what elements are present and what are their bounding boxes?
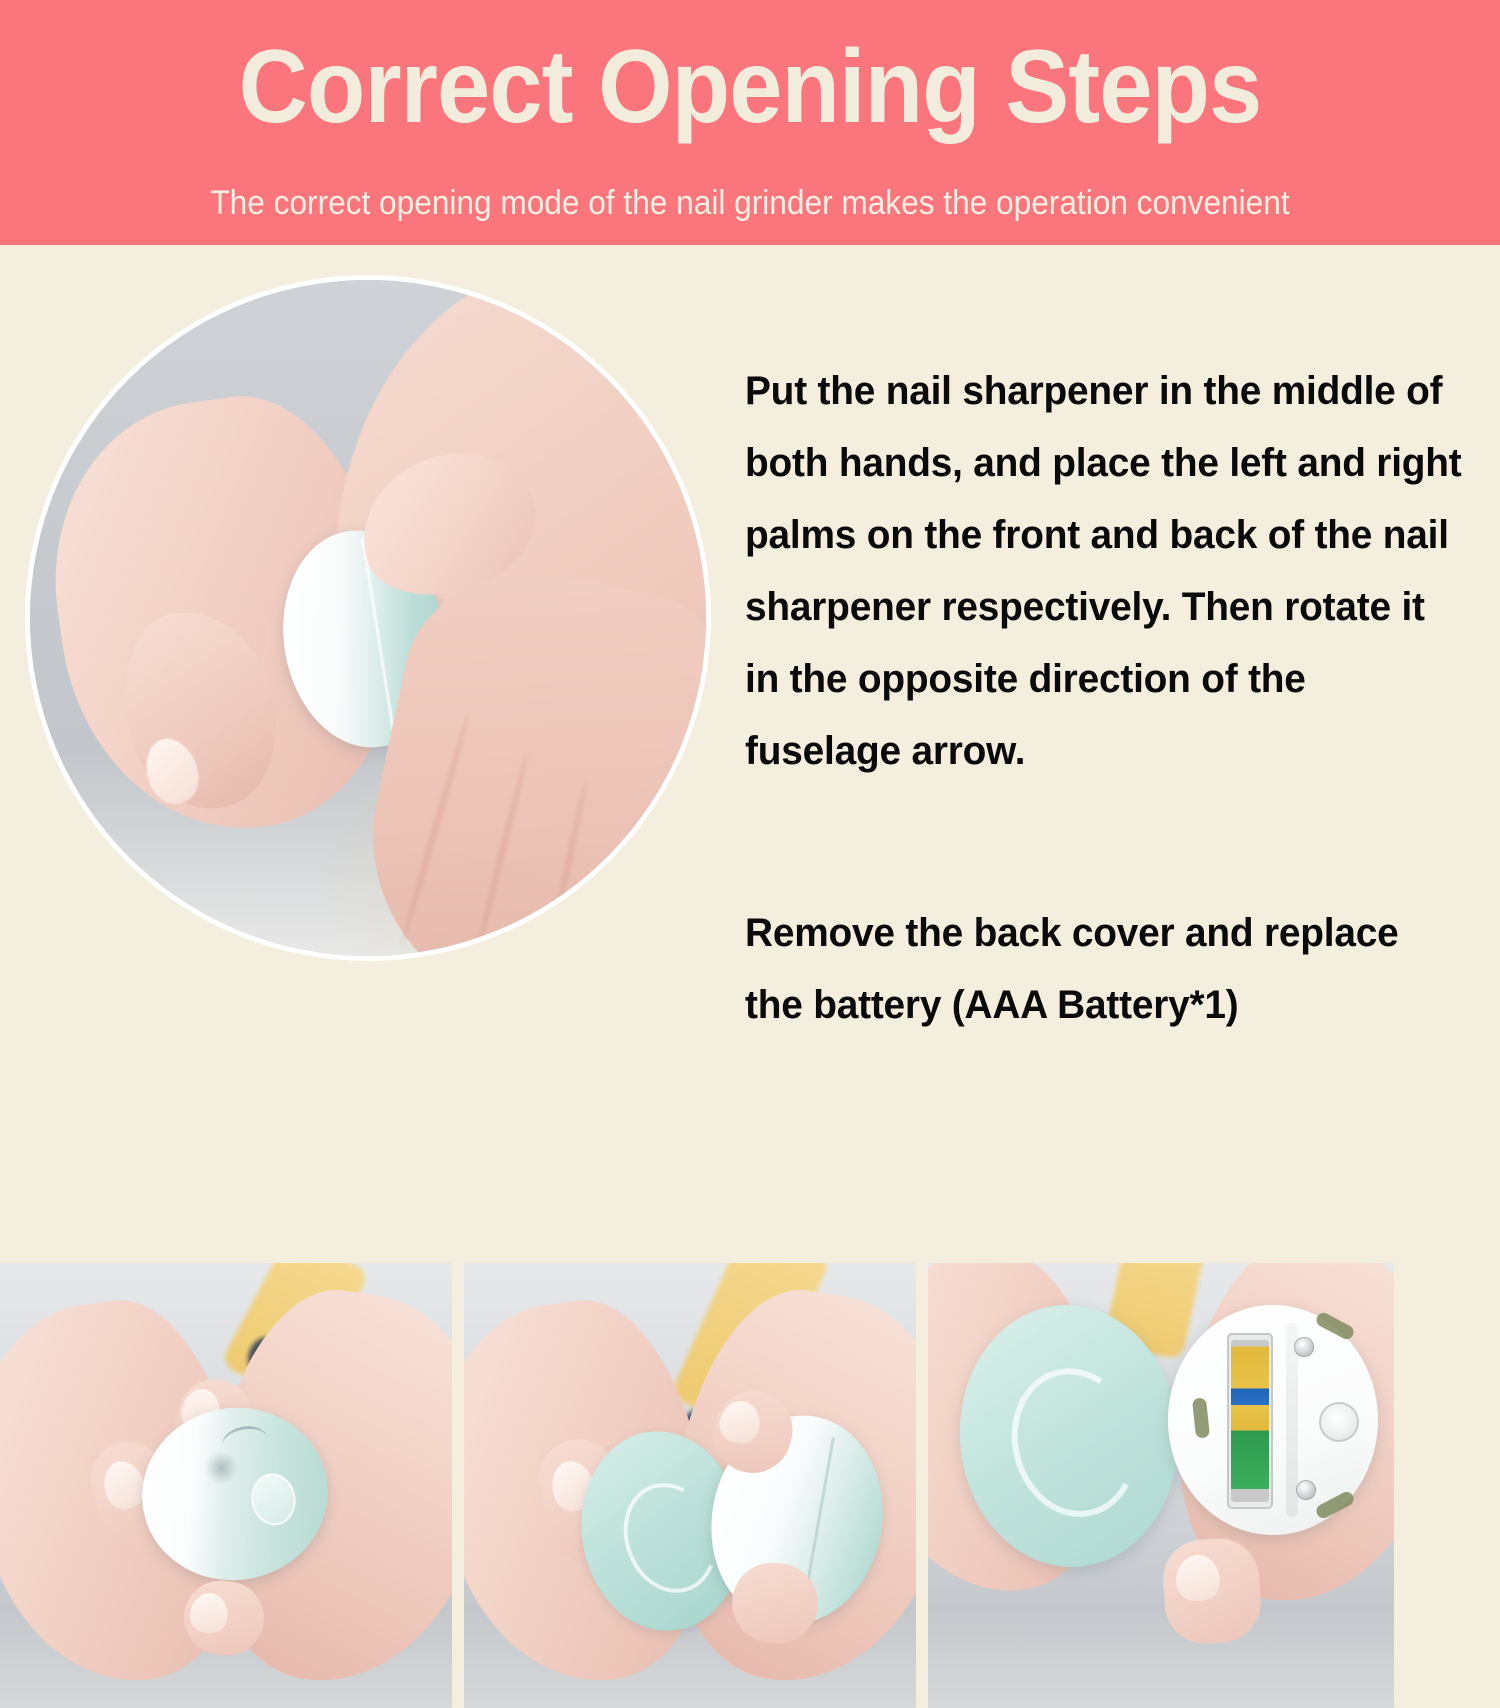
screw [1296,1480,1316,1500]
hero-circle-photo [30,280,706,956]
header-banner: Correct Opening Steps The correct openin… [0,0,1500,245]
hero-photo-backdrop [30,280,706,956]
nail-grinder-battery-compartment [1168,1305,1378,1535]
instruction-paragraph-1: Put the nail sharpener in the middle of … [745,355,1463,787]
motor-post [1319,1402,1359,1442]
instruction-paragraph-2: Remove the back cover and replace the ba… [745,897,1463,1041]
step-photo-strip [0,1263,1500,1708]
battery-slot [1227,1333,1273,1509]
fingernail [1176,1555,1220,1601]
cap-groove [996,1355,1153,1531]
locking-tab [1192,1397,1210,1438]
step-photo-3 [928,1263,1394,1708]
aaa-battery [1231,1340,1269,1502]
step-photo-1 [0,1263,452,1708]
step-photo-2 [464,1263,916,1708]
page-title: Correct Opening Steps [60,28,1440,146]
screw [1294,1337,1314,1357]
page-subtitle: The correct opening mode of the nail gri… [53,182,1448,224]
instruction-text-column: Put the nail sharpener in the middle of … [745,315,1485,1081]
content-area: Put the nail sharpener in the middle of … [0,245,1500,1500]
